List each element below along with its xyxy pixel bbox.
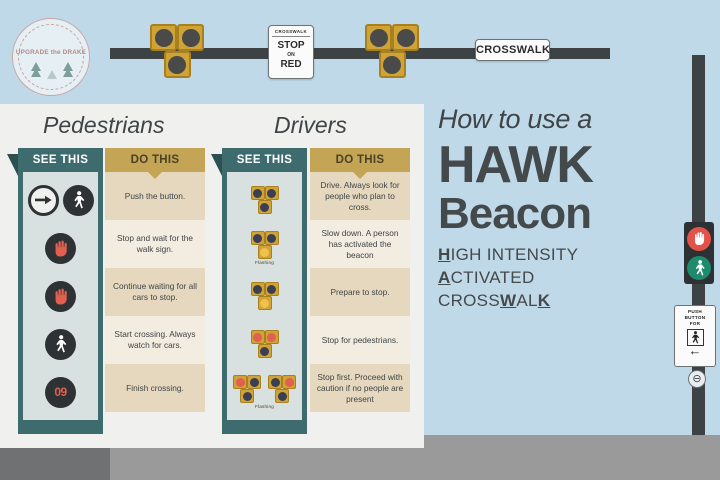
signal-lens-box: [265, 330, 279, 344]
signal-lens: [260, 347, 269, 356]
acronym-line-activated: ACTIVATED: [438, 266, 688, 289]
signal-lens-box: [265, 231, 279, 245]
signal-bottom-row: [150, 51, 204, 78]
signal-bottom-row: [240, 389, 254, 403]
acronym-letter-k: K: [538, 291, 551, 310]
signal-lens: [182, 29, 200, 47]
instruction-row: Stop for pedestrians.: [310, 316, 410, 364]
raised-hand-icon: [45, 233, 76, 264]
signal-top-row: [150, 24, 204, 51]
instruction-row: Stop first. Proceed with caution if no p…: [310, 364, 410, 412]
signal-lens: [250, 378, 259, 387]
signal-lens: [271, 378, 280, 387]
raised-hand-icon: [45, 281, 76, 312]
signal-lens-yellow: [260, 248, 269, 257]
list-item: [23, 176, 98, 224]
see-this-icons: 09: [23, 172, 98, 420]
do-this-header: DO THIS: [105, 148, 205, 172]
signal-lens: [267, 285, 276, 294]
signal-lens: [253, 285, 262, 294]
signal-bottom-row: [275, 389, 289, 403]
do-this-header: DO THIS: [310, 148, 410, 172]
signal-lens-red: [267, 333, 276, 342]
pole-knob-icon: ⊖: [688, 370, 706, 388]
signal-lens-box: [258, 200, 272, 214]
pedestrians-see-this-ribbon: SEE THIS: [18, 148, 103, 434]
sign-stop-text: STOP: [269, 40, 313, 51]
signal-lens-box: [247, 375, 261, 389]
signal-bottom-row: [365, 51, 419, 78]
signal-lens: [155, 29, 173, 47]
signal-lens-box: [164, 51, 191, 78]
flashing-label: Flashing: [255, 260, 274, 265]
see-this-header: SEE THIS: [222, 148, 307, 172]
countdown-timer-icon: 09: [45, 377, 76, 408]
signal-pair: [233, 375, 296, 403]
title-kicker: How to use a: [438, 104, 688, 135]
signal-lens-box: [233, 375, 247, 389]
signal-state-alternating-flashing-red: Flashing: [233, 375, 296, 409]
list-item: Flashing: [227, 224, 302, 272]
logo-text: UPGRADE the DRAKE: [13, 49, 89, 56]
tree-icon: [63, 62, 73, 71]
signal-bottom-row: [258, 296, 272, 310]
signal-lens-box: [177, 24, 204, 51]
drivers-do-this-column: DO THIS Drive. Always look for people wh…: [310, 148, 410, 412]
list-item: [23, 320, 98, 368]
signal-left-phase: [233, 375, 261, 403]
acronym-mid: AL: [516, 291, 537, 310]
see-this-header: SEE THIS: [18, 148, 103, 172]
acronym-pre: CROSS: [438, 291, 500, 310]
acronym-rest: CTIVATED: [451, 268, 535, 287]
signal-bottom-row: [258, 245, 272, 259]
walking-person-icon: [63, 185, 94, 216]
instruction-row: Continue waiting for all cars to stop.: [105, 268, 205, 316]
signal-lens: [260, 203, 269, 212]
signal-lens-yellow: [260, 299, 269, 308]
countdown-value: 09: [54, 385, 66, 399]
pedestrians-do-this-column: DO THIS Push the button. Stop and wait f…: [105, 148, 205, 412]
title-block: How to use a HAWK Beacon HIGH INTENSITY …: [438, 104, 688, 312]
ribbon-tail: [222, 420, 307, 434]
signal-lens-box: [251, 282, 265, 296]
signal-bottom-row: [258, 344, 272, 358]
push-button-sign: PUSH BUTTON FOR ←: [674, 305, 716, 367]
signal-top-row: [251, 330, 279, 344]
pedestrians-column-title: Pedestrians: [43, 112, 164, 139]
flashing-label: Flashing: [255, 404, 274, 409]
signal-lens-box: [150, 24, 177, 51]
see-this-icons: Flashing: [227, 172, 302, 420]
signal-top-row: [365, 24, 419, 51]
instruction-row: Prepare to stop.: [310, 268, 410, 316]
title-hawk: HAWK: [438, 139, 688, 191]
instruction-row: Slow down. A person has activated the be…: [310, 220, 410, 268]
signal-lens: [253, 234, 262, 243]
list-item: Flashing: [227, 368, 302, 416]
signal-lens-box: [365, 24, 392, 51]
drivers-see-this-ribbon: SEE THIS: [222, 148, 307, 434]
list-item: [227, 272, 302, 320]
title-beacon: Beacon: [438, 191, 688, 237]
signal-lens-box: [268, 375, 282, 389]
logo-ring: [18, 24, 84, 90]
signal-lens-box: [258, 245, 272, 259]
signal-lens: [253, 189, 262, 198]
instruction-row: Drive. Always look for people who plan t…: [310, 172, 410, 220]
sign-red-text: RED: [269, 59, 313, 70]
signal-lens-box: [251, 231, 265, 245]
signal-lens-box: [265, 186, 279, 200]
signal-lens: [267, 234, 276, 243]
signal-top-row: [268, 375, 296, 389]
signal-lens: [278, 392, 287, 401]
signal-state-dark: [251, 186, 279, 214]
signal-lens: [168, 56, 186, 74]
signal-lens-box: [251, 330, 265, 344]
sign-crosswalk-label: CROSSWALK: [272, 29, 310, 37]
list-item: [227, 320, 302, 368]
signal-lens-box: [275, 389, 289, 403]
left-arrow-icon: ←: [675, 347, 715, 355]
signal-lens: [243, 392, 252, 401]
list-item: 09: [23, 368, 98, 416]
acronym-letter-h: H: [438, 245, 451, 264]
list-item: [23, 272, 98, 320]
signal-lens-box: [258, 344, 272, 358]
drivers-column-title: Drivers: [274, 112, 347, 139]
instruction-row: Push the button.: [105, 172, 205, 220]
pedestrian-signal-head: [684, 222, 714, 284]
signal-lens-box: [282, 375, 296, 389]
signal-lens: [267, 189, 276, 198]
raised-hand-icon: [687, 227, 711, 251]
crosswalk-sign: CROSSWALK: [475, 39, 550, 61]
signal-lens-red: [236, 378, 245, 387]
signal-lens-box: [258, 296, 272, 310]
signal-right-phase: [268, 375, 296, 403]
hawk-signal-head-left: [150, 24, 204, 78]
signal-lens-box: [251, 186, 265, 200]
signal-lens: [383, 56, 401, 74]
signal-lens-box: [392, 24, 419, 51]
signal-top-row: [251, 282, 279, 296]
dont-walk-outline-icon: [28, 185, 59, 216]
walking-person-icon: [687, 256, 711, 280]
ribbon-tail: [18, 420, 103, 434]
signal-bottom-row: [258, 200, 272, 214]
list-item: [23, 224, 98, 272]
signal-top-row: [251, 186, 279, 200]
acronym-letter-a: A: [438, 268, 451, 287]
signal-state-solid-red: [251, 330, 279, 358]
signal-lens-box: [379, 51, 406, 78]
push-label-line3: FOR: [675, 321, 715, 327]
list-item: [227, 176, 302, 224]
signal-lens: [397, 29, 415, 47]
sign-on-text: ON: [269, 51, 313, 59]
walking-person-icon: [45, 329, 76, 360]
instruction-row: Finish crossing.: [105, 364, 205, 412]
logo: UPGRADE the DRAKE: [12, 18, 90, 96]
signal-state-flashing-yellow: Flashing: [251, 231, 279, 265]
stop-on-red-sign: CROSSWALK STOP ON RED: [268, 25, 314, 79]
acronym-line-high-intensity: HIGH INTENSITY: [438, 243, 688, 266]
signal-lens-red: [253, 333, 262, 342]
acronym-letter-w: W: [500, 291, 516, 310]
signal-lens-box: [240, 389, 254, 403]
signal-lens-red: [285, 378, 294, 387]
infographic-canvas: CROSSWALK STOP ON RED CROSSWALK PUSH BUT…: [0, 0, 720, 480]
instruction-row: Start crossing. Always watch for cars.: [105, 316, 205, 364]
signal-lens: [370, 29, 388, 47]
signal-top-row: [233, 375, 261, 389]
signal-top-row: [251, 231, 279, 245]
tree-icon: [31, 62, 41, 71]
hawk-signal-head-right: [365, 24, 419, 78]
acronym-line-crosswalk: CROSSWALK: [438, 289, 688, 312]
tree-icon: [47, 70, 57, 79]
signal-lens-box: [265, 282, 279, 296]
signal-state-solid-yellow: [251, 282, 279, 310]
acronym-rest: IGH INTENSITY: [451, 245, 579, 264]
instruction-row: Stop and wait for the walk sign.: [105, 220, 205, 268]
